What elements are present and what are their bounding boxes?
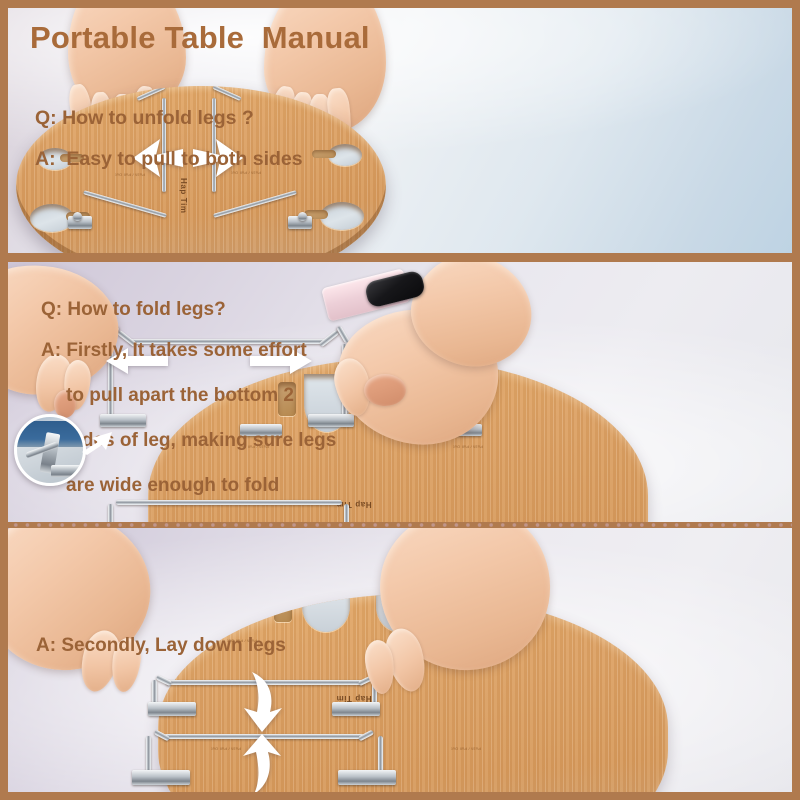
panel-fold-legs-step1: Push / Pull Out Push / Pull Out Hap Tim — [8, 262, 792, 522]
wine-glass-neck-slot — [312, 150, 336, 158]
leg-frame-corner — [156, 675, 173, 687]
panel1-question: Q: How to unfold legs ? — [35, 107, 254, 130]
engraved-label: Push / Pull Out — [446, 746, 486, 750]
leg-hinge-bracket — [308, 414, 354, 427]
panel2-answer-line-2: to pull apart the bottom 2 — [66, 385, 294, 407]
panel3-answer: A: Secondly, Lay down legs — [36, 635, 286, 657]
arrow-curve-down-icon — [240, 670, 284, 739]
leg-rod-diagonal — [213, 190, 297, 218]
leg-frame-side — [152, 680, 157, 704]
leg-rod-horizontal — [212, 86, 241, 101]
engraved-label: Push / Pull Out — [448, 444, 488, 448]
leg-bracket-pin — [73, 212, 82, 221]
leg-bracket-pin — [298, 212, 307, 221]
leg-frame-side — [108, 504, 113, 522]
leg-hinge-bracket — [332, 702, 380, 716]
leg-hinge-bracket — [100, 414, 146, 427]
panel2-answer-line-4: are wide enough to fold — [66, 475, 279, 497]
manual-page: Push / Pull Out Push / Pull Out Hap Tim — [0, 0, 800, 800]
inset-leg-latch-closeup — [14, 414, 86, 486]
inset-pointer-arrow-icon — [80, 430, 114, 461]
latch-base — [51, 465, 81, 477]
panel-unfold-legs: Push / Pull Out Push / Pull Out Hap Tim — [8, 8, 792, 253]
leg-frame-bottom-bar — [116, 500, 342, 505]
photo-table-underside-laying-legs-down: Push / Pull Out Push / Pull Out Push / P… — [8, 528, 792, 792]
leg-hinge-bracket — [148, 702, 196, 716]
dotted-divider — [8, 522, 792, 528]
panel2-answer-line-1: A: Firstly, It takes some effort — [41, 340, 307, 362]
arrow-curve-up-icon — [240, 734, 284, 792]
panel2-question: Q: How to fold legs? — [41, 299, 226, 321]
page-title: Portable Table Manual — [30, 20, 370, 56]
leg-hinge-bracket — [338, 770, 396, 785]
panel1-answer: A: Easy to pull to both sides — [35, 148, 303, 171]
leg-frame-side — [344, 504, 349, 522]
wine-glass-slot — [302, 594, 350, 632]
leg-hinge-bracket — [132, 770, 190, 785]
panel-fold-legs-step2: Push / Pull Out Push / Pull Out Push / P… — [8, 528, 792, 792]
finger — [364, 374, 406, 406]
wine-glass-slot — [274, 594, 292, 622]
leg-rod-diagonal — [83, 190, 167, 218]
